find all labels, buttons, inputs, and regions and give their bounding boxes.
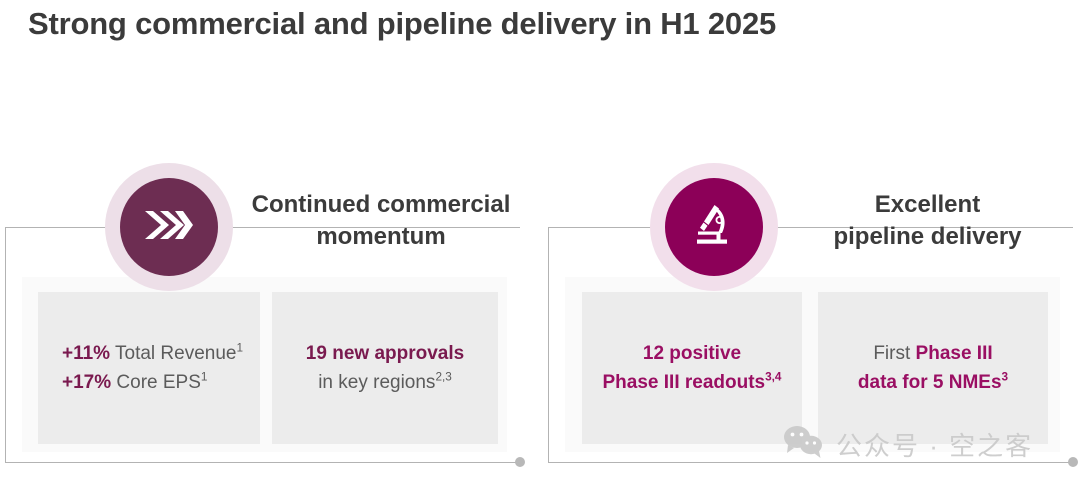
stat-prefix: First	[873, 343, 915, 364]
badge-commercial	[105, 163, 233, 291]
stat-line: in key regions2,3	[306, 368, 464, 397]
page-title: Strong commercial and pipeline delivery …	[28, 6, 776, 42]
stat-accent: +11%	[62, 343, 110, 364]
stat-line: data for 5 NMEs3	[858, 368, 1008, 397]
badge-core	[120, 178, 218, 276]
stat-line: Phase III readouts3,4	[603, 368, 782, 397]
stat-accent: 12 positive	[643, 343, 741, 364]
stat-box-approvals: 19 new approvals in key regions2,3	[272, 292, 498, 444]
stat-line: 12 positive	[603, 339, 782, 368]
stat-line: First Phase III	[858, 339, 1008, 368]
stat-accent: data for 5 NMEs	[858, 372, 1002, 393]
stat-line: +11% Total Revenue1	[62, 339, 243, 368]
triple-chevron-right-icon	[143, 205, 195, 250]
card-heading-commercial: Continued commercial momentum	[241, 189, 521, 253]
heading-line: Excellent	[790, 189, 1065, 221]
stat-accent: 19 new approvals	[306, 343, 464, 364]
stat-line: 19 new approvals	[306, 339, 464, 368]
stat-accent: Phase III	[916, 343, 993, 364]
heading-line: Continued commercial	[241, 189, 521, 221]
watermark-text: 公众号 · 空之客	[836, 426, 1033, 463]
badge-pipeline	[650, 163, 778, 291]
stat-box-nme-data: First Phase III data for 5 NMEs3	[818, 292, 1048, 444]
footnote-ref: 3	[1002, 371, 1009, 384]
stat-rest: Core EPS	[111, 372, 201, 393]
heading-line: pipeline delivery	[790, 221, 1065, 253]
stat-box-revenue-eps: +11% Total Revenue1 +17% Core EPS1	[38, 292, 260, 444]
stat-rest: in key regions	[318, 372, 435, 393]
card-heading-pipeline: Excellent pipeline delivery	[790, 189, 1065, 253]
footnote-ref: 1	[236, 341, 243, 354]
stat-accent: +17%	[62, 372, 111, 393]
watermark: 公众号 · 空之客	[782, 425, 1033, 464]
slide-canvas: Strong commercial and pipeline delivery …	[0, 0, 1080, 489]
stat-rest: Total Revenue	[110, 343, 236, 364]
stat-line: +17% Core EPS1	[62, 368, 243, 397]
heading-line: momentum	[241, 221, 521, 253]
card-end-dot-icon	[1068, 457, 1078, 467]
footnote-ref: 3,4	[765, 371, 781, 384]
badge-core	[665, 178, 763, 276]
wechat-icon	[782, 425, 824, 464]
card-end-dot-icon	[515, 457, 525, 467]
footnote-ref: 2,3	[435, 371, 451, 384]
footnote-ref: 1	[201, 371, 208, 384]
stat-accent: Phase III readouts	[603, 372, 766, 393]
microscope-icon	[689, 200, 739, 255]
stat-box-phase3-readouts: 12 positive Phase III readouts3,4	[582, 292, 802, 444]
